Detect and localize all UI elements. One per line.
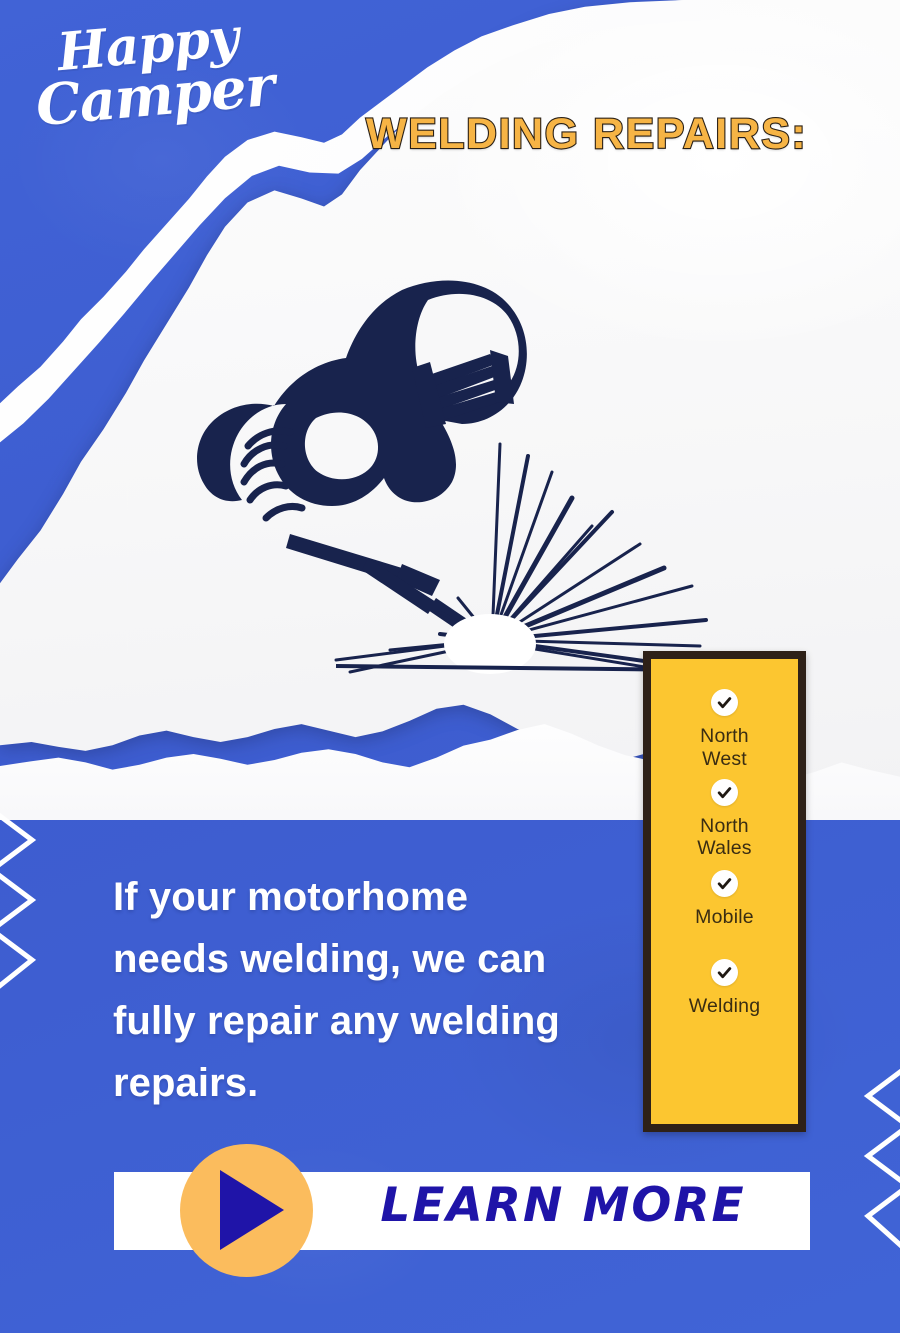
list-item[interactable]: Welding <box>651 959 798 1018</box>
list-item-label: North West <box>700 725 749 771</box>
check-circle-icon <box>711 870 738 897</box>
body-text: If your motorhome needs welding, we can … <box>113 866 583 1114</box>
play-button-circle[interactable] <box>180 1144 313 1277</box>
logo-line-two: Camper <box>34 63 253 133</box>
check-circle-icon <box>711 689 738 716</box>
poster-canvas: Happy Camper WELDING REPAIRS: <box>0 0 900 1333</box>
zigzag-left-decoration <box>0 806 58 996</box>
list-item-label: Mobile <box>695 906 754 929</box>
list-item[interactable]: Mobile <box>651 870 798 929</box>
service-checklist-panel: North West North Wales Mobile Welding <box>643 651 806 1132</box>
label-line-1: North <box>700 815 749 837</box>
label-line-2: Wales <box>697 837 751 859</box>
label-line-1: North <box>700 725 749 747</box>
list-item-label: Welding <box>689 995 761 1018</box>
page-title: WELDING REPAIRS: <box>366 110 807 159</box>
welder-with-sparks-illustration <box>140 268 710 688</box>
play-triangle-icon <box>180 1144 313 1277</box>
label-line-2: West <box>702 748 747 770</box>
zigzag-right-decoration <box>842 1062 900 1257</box>
check-circle-icon <box>711 959 738 986</box>
list-item-label: North Wales <box>697 815 751 861</box>
list-item[interactable]: North Wales <box>651 779 798 861</box>
brand-logo[interactable]: Happy Camper <box>30 13 258 186</box>
check-circle-icon <box>711 779 738 806</box>
learn-more-label: LEARN MORE <box>368 1178 758 1233</box>
list-item[interactable]: North West <box>651 689 798 771</box>
